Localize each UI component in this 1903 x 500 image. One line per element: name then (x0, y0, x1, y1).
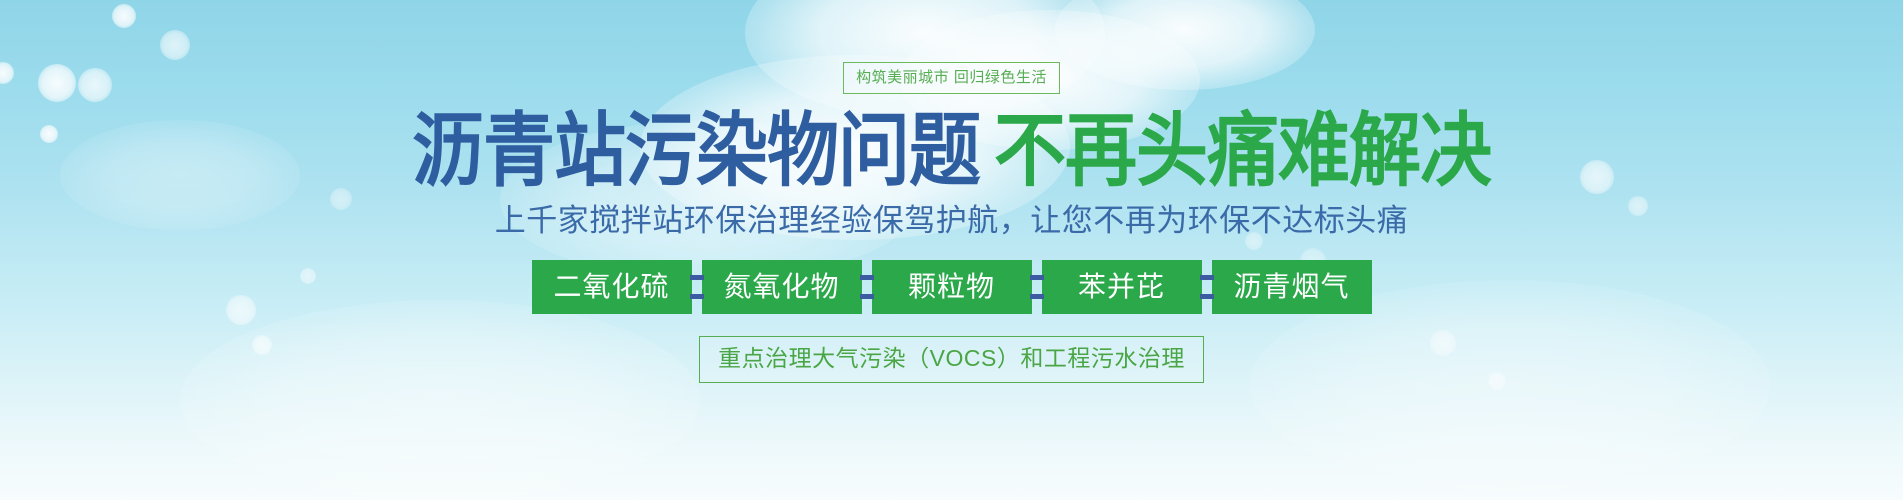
banner-tagline: 构筑美丽城市 回归绿色生活 (843, 62, 1060, 94)
headline-accent-text: 不再头痛难解决 (994, 103, 1491, 197)
banner-content: 构筑美丽城市 回归绿色生活 沥青站污染物问题不再头痛难解决 上千家搅拌站环保治理… (0, 0, 1903, 500)
pollutant-tag-label: 沥青烟气 (1233, 273, 1349, 301)
pollutant-tag[interactable]: 颗粒物 (872, 260, 1032, 314)
tag-separator (692, 260, 702, 314)
banner-subtitle: 上千家搅拌站环保治理经验保驾护航，让您不再为环保不达标头痛 (495, 205, 1409, 236)
pollutant-tag[interactable]: 沥青烟气 (1212, 260, 1372, 314)
banner-footer-note: 重点治理大气污染（VOCS）和工程污水治理 (699, 336, 1204, 383)
pollutant-tag-label: 二氧化硫 (553, 273, 669, 301)
pollutant-tag-label: 苯并芘 (1078, 273, 1165, 301)
tag-separator (862, 260, 872, 314)
pollutant-tag-row: 二氧化硫 氮氧化物 颗粒物 苯并芘 沥青烟气 (532, 260, 1372, 314)
tag-separator (1032, 260, 1042, 314)
pollutant-tag[interactable]: 二氧化硫 (532, 260, 692, 314)
pollutant-tag-label: 氮氧化物 (723, 273, 839, 301)
hero-banner: 构筑美丽城市 回归绿色生活 沥青站污染物问题不再头痛难解决 上千家搅拌站环保治理… (0, 0, 1903, 500)
pollutant-tag[interactable]: 苯并芘 (1042, 260, 1202, 314)
banner-headline: 沥青站污染物问题不再头痛难解决 (412, 110, 1491, 192)
headline-primary-text: 沥青站污染物问题 (412, 103, 980, 197)
tag-separator (1202, 260, 1212, 314)
pollutant-tag-label: 颗粒物 (908, 273, 995, 301)
pollutant-tag[interactable]: 氮氧化物 (702, 260, 862, 314)
